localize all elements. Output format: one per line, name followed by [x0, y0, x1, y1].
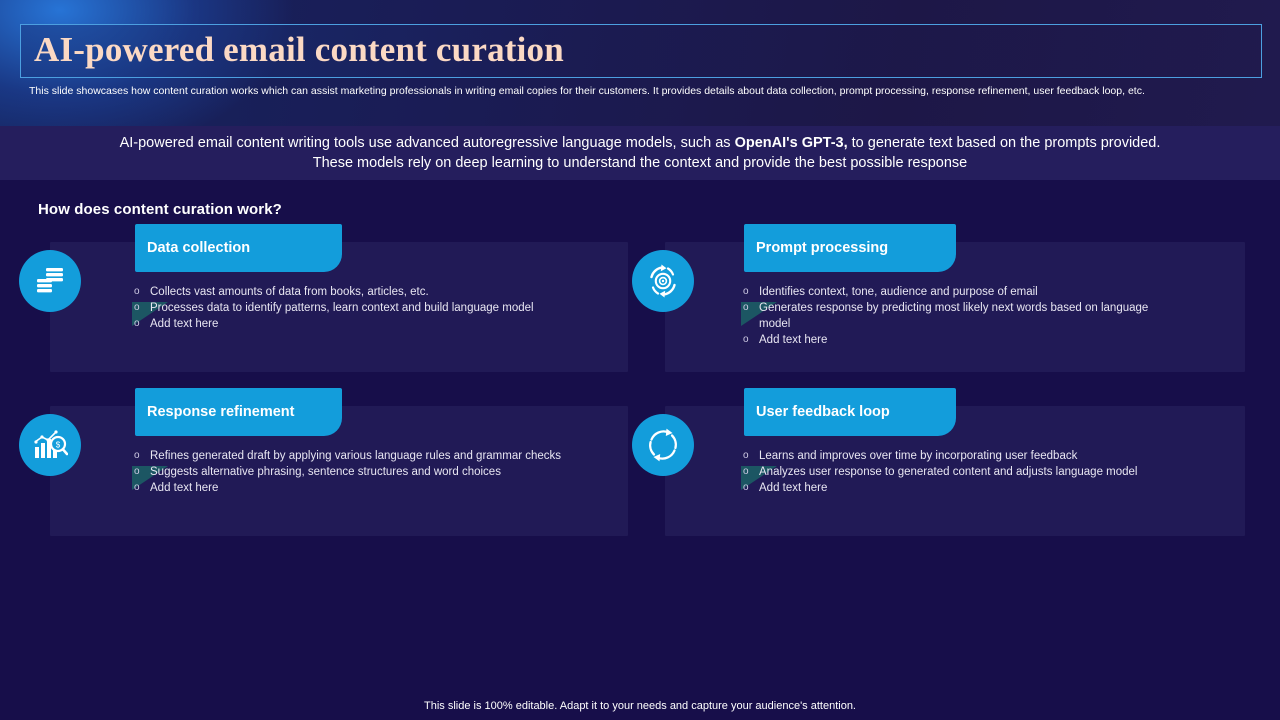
list-item: Processes data to identify patterns, lea… [132, 300, 602, 316]
card-data-collection[interactable]: Data collection Collects vast amounts of… [50, 242, 628, 372]
card-title: Response refinement [135, 404, 294, 420]
list-item: Collects vast amounts of data from books… [132, 284, 602, 300]
list-item: Suggests alternative phrasing, sentence … [132, 464, 582, 480]
card-icon-circle: $ [19, 414, 81, 476]
card-title-tab[interactable]: Data collection [135, 224, 342, 272]
card-title-tab[interactable]: User feedback loop [744, 388, 956, 436]
list-item: Add text here [132, 316, 602, 332]
card-icon-circle [19, 250, 81, 312]
card-title-tab[interactable]: Response refinement [135, 388, 342, 436]
footer-note: This slide is 100% editable. Adapt it to… [0, 700, 1280, 712]
list-item: Identifies context, tone, audience and p… [741, 284, 1161, 300]
list-item: Learns and improves over time by incorpo… [741, 448, 1211, 464]
card-response-refinement[interactable]: Response refinement $ Refin [50, 406, 628, 536]
slide-header: AI-powered email content curation This s… [0, 0, 1280, 126]
database-stack-icon [33, 264, 67, 298]
list-item: Add text here [132, 480, 582, 496]
intro-banner-text: AI-powered email content writing tools u… [80, 133, 1200, 173]
list-item: Generates response by predicting most li… [741, 300, 1161, 332]
card-bullet-list: Identifies context, tone, audience and p… [741, 284, 1161, 348]
card-user-feedback-loop[interactable]: User feedback loop Learns and improves o… [665, 406, 1245, 536]
card-bullet-list: Collects vast amounts of data from books… [132, 284, 602, 332]
slide-body: How does content curation work? Data col… [0, 180, 1280, 720]
banner-line1-after: to generate text based on the prompts pr… [848, 135, 1161, 151]
card-icon-circle [632, 414, 694, 476]
svg-text:$: $ [56, 441, 61, 450]
card-icon-circle [632, 250, 694, 312]
card-title: User feedback loop [744, 404, 890, 420]
banner-line2: These models rely on deep learning to un… [313, 155, 968, 171]
slide-description: This slide showcases how content curatio… [29, 85, 1209, 98]
bar-chart-magnifier-icon: $ [32, 428, 68, 462]
list-item: Analyzes user response to generated cont… [741, 464, 1211, 480]
card-title-tab[interactable]: Prompt processing [744, 224, 956, 272]
card-prompt-processing[interactable]: Prompt processing [665, 242, 1245, 372]
card-title: Data collection [135, 240, 250, 256]
list-item: Refines generated draft by applying vari… [132, 448, 582, 464]
banner-line1-before: AI-powered email content writing tools u… [120, 135, 735, 151]
card-title: Prompt processing [744, 240, 888, 256]
list-item: Add text here [741, 480, 1211, 496]
card-bullet-list: Learns and improves over time by incorpo… [741, 448, 1211, 496]
intro-banner: AI-powered email content writing tools u… [0, 126, 1280, 180]
circular-arrows-icon [644, 426, 682, 464]
list-item: Add text here [741, 332, 1161, 348]
page-title: AI-powered email content curation [34, 26, 1134, 74]
banner-line1-bold: OpenAI's GPT-3, [735, 135, 848, 151]
section-heading: How does content curation work? [38, 201, 282, 218]
gear-cycle-icon [645, 263, 681, 299]
card-bullet-list: Refines generated draft by applying vari… [132, 448, 582, 496]
